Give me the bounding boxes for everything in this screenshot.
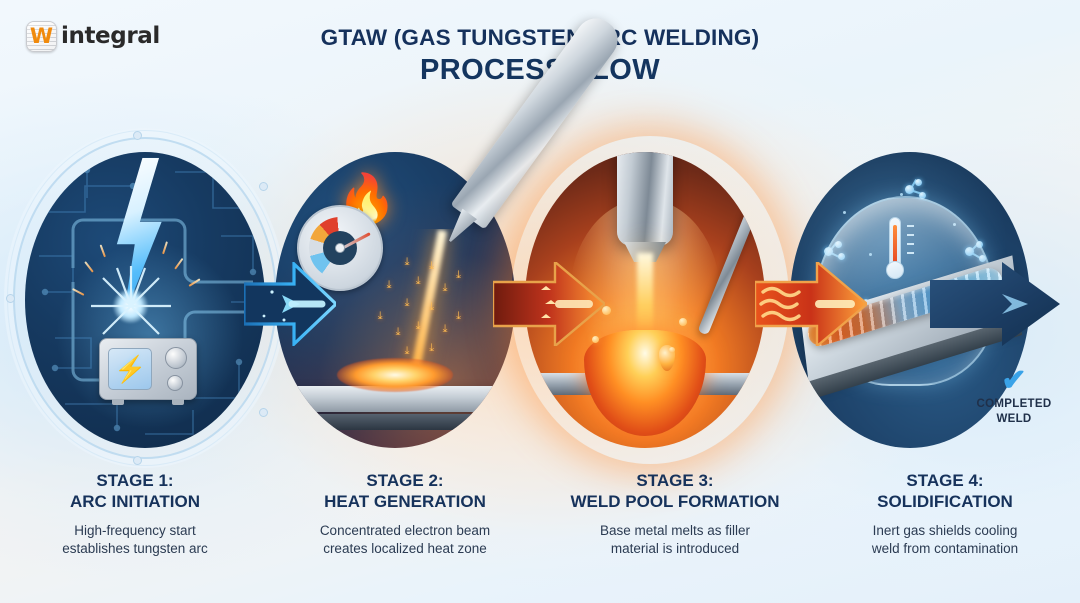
- stage-1-graphic: ⚡: [25, 150, 275, 450]
- arrow-stage4-output: [930, 262, 1060, 346]
- thermometer-icon: [884, 217, 906, 279]
- stage-4-number: STAGE 4:: [816, 470, 1074, 491]
- stage-4-desc-line-2: weld from contamination: [816, 540, 1074, 558]
- power-knob-icon: [167, 375, 183, 391]
- ring-dot-icon: [133, 131, 142, 140]
- stage-4-desc-line-1: Inert gas shields cooling: [816, 522, 1074, 540]
- arrow-stage1-to-stage2: [244, 262, 336, 346]
- bubble-icon: [679, 318, 687, 326]
- stage-3-desc-line-1: Base metal melts as filler: [546, 522, 804, 540]
- heat-zone-icon: [337, 358, 453, 392]
- power-knob-icon: [165, 347, 187, 369]
- completed-weld-label: ✔ COMPLETED WELD: [955, 366, 1073, 426]
- stage-captions: STAGE 1: ARC INITIATION High-frequency s…: [0, 470, 1080, 558]
- ring-dot-icon: [6, 294, 15, 303]
- completed-weld-line-1: COMPLETED: [955, 397, 1073, 411]
- stage-2-desc-line-2: creates localized heat zone: [276, 540, 534, 558]
- stage-3-desc-line-2: material is introduced: [546, 540, 804, 558]
- stage-1-number: STAGE 1:: [6, 470, 264, 491]
- stage-1-desc-line-1: High-frequency start: [6, 522, 264, 540]
- molten-weld-pool-icon: [584, 330, 706, 436]
- arrow-stage3-to-stage4: [755, 262, 867, 346]
- logo-letter: W: [30, 26, 53, 47]
- stage-1-name: ARC INITIATION: [6, 491, 264, 512]
- power-supply-icon: ⚡: [99, 338, 197, 400]
- arrow-stage2-to-stage3: [493, 262, 605, 346]
- logo-wordmark: integral: [61, 25, 160, 48]
- stage-2-name: HEAT GENERATION: [276, 491, 534, 512]
- stage-3-caption: STAGE 3: WELD POOL FORMATION Base metal …: [540, 470, 810, 558]
- check-icon: ✔: [955, 366, 1073, 396]
- logo-mark-icon: W: [26, 21, 57, 52]
- ring-dot-icon: [133, 456, 142, 465]
- stage-2-desc-line-1: Concentrated electron beam: [276, 522, 534, 540]
- stage-3-number: STAGE 3:: [546, 470, 804, 491]
- welding-nozzle-icon: [617, 152, 673, 246]
- stage-3-name: WELD POOL FORMATION: [546, 491, 804, 512]
- stage-2-number: STAGE 2:: [276, 470, 534, 491]
- power-supply-screen: ⚡: [108, 348, 152, 390]
- stage-1-desc-line-2: establishes tungsten arc: [6, 540, 264, 558]
- stage-1-caption: STAGE 1: ARC INITIATION High-frequency s…: [0, 470, 270, 558]
- stage-4-name: SOLIDIFICATION: [816, 491, 1074, 512]
- stage-4-caption: STAGE 4: SOLIDIFICATION Inert gas shield…: [810, 470, 1080, 558]
- stage-1-disc: ⚡: [25, 152, 265, 448]
- infographic-canvas: W integral GTAW (GAS TUNGSTEN ARC WELDIN…: [0, 0, 1080, 603]
- page-title: GTAW (GAS TUNGSTEN ARC WELDING) PROCESS …: [0, 24, 1080, 89]
- completed-weld-line-2: WELD: [955, 412, 1073, 426]
- brand-logo: W integral: [26, 21, 160, 52]
- title-line-1: GTAW (GAS TUNGSTEN ARC WELDING): [0, 24, 1080, 51]
- stage-2-caption: STAGE 2: HEAT GENERATION Concentrated el…: [270, 470, 540, 558]
